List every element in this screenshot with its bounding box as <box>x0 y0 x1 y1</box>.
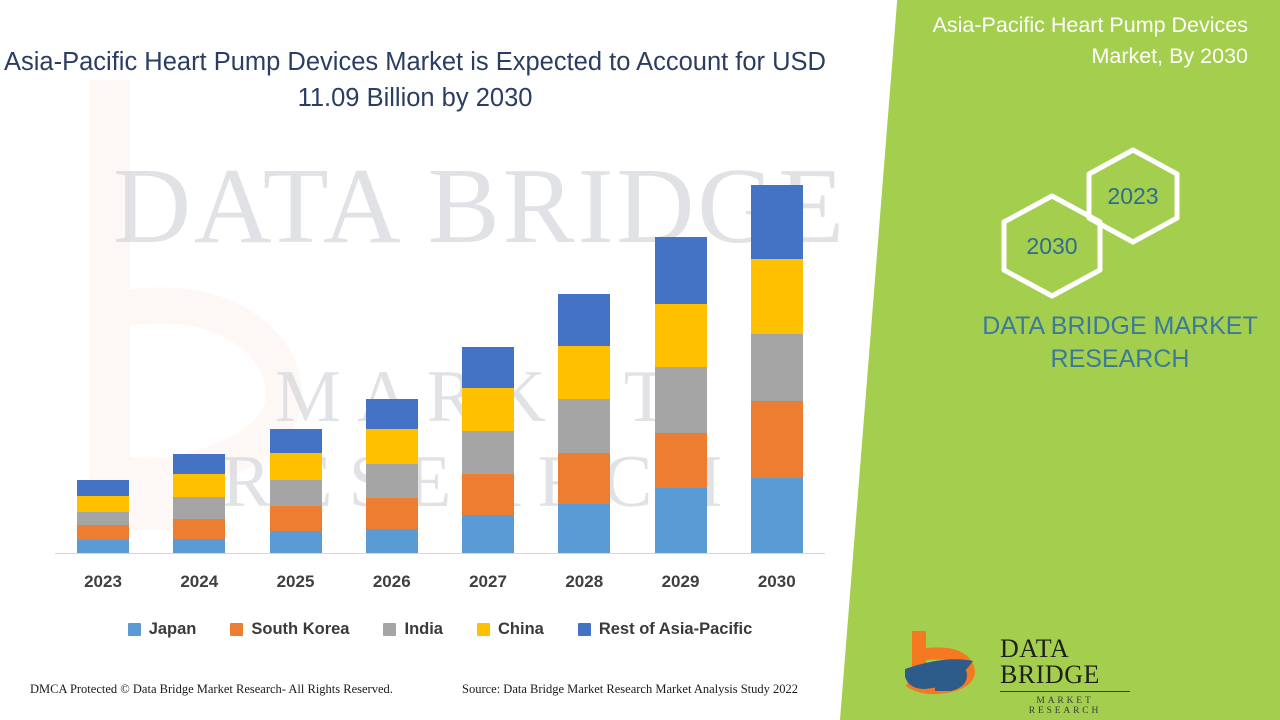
bar-column-2023[interactable] <box>55 480 151 554</box>
bar-chart-plot <box>55 170 825 554</box>
legend-item-japan[interactable]: Japan <box>128 620 197 639</box>
bar-column-2026[interactable] <box>344 399 440 554</box>
stacked-bar <box>77 480 129 554</box>
hexagon-badge-2030: 2030 <box>1000 192 1104 300</box>
legend-label: Japan <box>149 620 197 639</box>
bar-segment <box>77 512 129 525</box>
bar-segment <box>751 185 803 258</box>
x-axis-label-2025: 2025 <box>248 572 344 592</box>
hexagon-label-2030: 2030 <box>1000 192 1104 300</box>
legend-label: Rest of Asia-Pacific <box>599 620 752 639</box>
bar-segment <box>655 488 707 554</box>
stacked-bar <box>173 454 225 554</box>
bar-segment <box>366 529 418 554</box>
bar-segment <box>751 401 803 478</box>
bar-segment <box>462 515 514 554</box>
legend-swatch-icon <box>230 623 243 636</box>
bar-segment <box>366 429 418 464</box>
stacked-bar <box>751 185 803 554</box>
bar-segment <box>173 474 225 497</box>
bar-segment <box>462 347 514 388</box>
chart-panel: DATA BRIDGE MARKET RESEARCH Asia-Pacific… <box>0 0 880 720</box>
footer-source: Source: Data Bridge Market Research Mark… <box>462 682 798 697</box>
bar-segment <box>77 496 129 512</box>
x-axis-line <box>55 553 825 554</box>
bar-segment <box>462 431 514 474</box>
bar-column-2029[interactable] <box>633 237 729 554</box>
bar-segment <box>751 334 803 401</box>
bar-segment <box>173 454 225 474</box>
bar-segment <box>462 388 514 431</box>
bar-segment <box>558 399 610 453</box>
legend-item-south-korea[interactable]: South Korea <box>230 620 349 639</box>
x-axis-label-2029: 2029 <box>633 572 729 592</box>
bar-column-2027[interactable] <box>440 347 536 554</box>
legend-label: China <box>498 620 544 639</box>
bar-column-2025[interactable] <box>248 429 344 554</box>
bar-segment <box>270 531 322 554</box>
stacked-bar <box>270 429 322 554</box>
legend-swatch-icon <box>383 623 396 636</box>
logo-wordmark: DATA BRIDGE MARKET RESEARCH <box>1000 636 1130 716</box>
legend-item-china[interactable]: China <box>477 620 544 639</box>
bar-segment <box>77 480 129 496</box>
legend-swatch-icon <box>128 623 141 636</box>
bar-segment <box>558 453 610 504</box>
x-axis-label-2030: 2030 <box>729 572 825 592</box>
bar-segment <box>77 525 129 540</box>
bar-segment <box>270 453 322 480</box>
legend-label: India <box>404 620 443 639</box>
bar-segment <box>173 539 225 554</box>
stacked-bar <box>558 294 610 554</box>
bar-segment <box>655 433 707 488</box>
x-axis-label-2024: 2024 <box>151 572 247 592</box>
bar-segment <box>462 474 514 515</box>
footer-copyright: DMCA Protected © Data Bridge Market Rese… <box>30 682 393 697</box>
brand-name-text: DATA BRIDGE MARKET RESEARCH <box>965 310 1275 375</box>
bar-segment <box>366 464 418 498</box>
logo-sub-text: MARKET RESEARCH <box>1000 696 1130 716</box>
bar-segment <box>558 346 610 399</box>
x-axis-label-2026: 2026 <box>344 572 440 592</box>
bar-segment <box>270 480 322 506</box>
chart-legend: JapanSouth KoreaIndiaChinaRest of Asia-P… <box>55 616 825 642</box>
bar-segment <box>655 367 707 433</box>
bar-segment <box>558 504 610 554</box>
bar-segment <box>751 478 803 554</box>
stacked-bar <box>366 399 418 554</box>
stacked-bar <box>462 347 514 554</box>
bar-segment <box>655 237 707 303</box>
x-axis-label-2028: 2028 <box>536 572 632 592</box>
side-panel-title: Asia-Pacific Heart Pump Devices Market, … <box>898 10 1248 72</box>
legend-item-rest-of-asia-pacific[interactable]: Rest of Asia-Pacific <box>578 620 752 639</box>
bar-segment <box>655 304 707 367</box>
x-axis-labels: 20232024202520262027202820292030 <box>55 572 825 600</box>
bar-segment <box>173 497 225 519</box>
bar-segment <box>270 429 322 453</box>
bar-segment <box>77 540 129 554</box>
bar-segment <box>270 506 322 531</box>
logo-main-text: DATA BRIDGE <box>1000 636 1130 692</box>
bar-segment <box>173 519 225 539</box>
bar-segment <box>366 399 418 429</box>
legend-swatch-icon <box>578 623 591 636</box>
legend-item-india[interactable]: India <box>383 620 443 639</box>
bar-segment <box>366 498 418 529</box>
stacked-bar <box>655 237 707 554</box>
chart-title: Asia-Pacific Heart Pump Devices Market i… <box>0 44 830 116</box>
x-axis-label-2023: 2023 <box>55 572 151 592</box>
x-axis-label-2027: 2027 <box>440 572 536 592</box>
legend-label: South Korea <box>251 620 349 639</box>
bar-column-2030[interactable] <box>729 185 825 554</box>
bar-segment <box>558 294 610 346</box>
bar-column-2024[interactable] <box>151 454 247 554</box>
bar-column-2028[interactable] <box>536 294 632 554</box>
legend-swatch-icon <box>477 623 490 636</box>
bar-segment <box>751 259 803 334</box>
